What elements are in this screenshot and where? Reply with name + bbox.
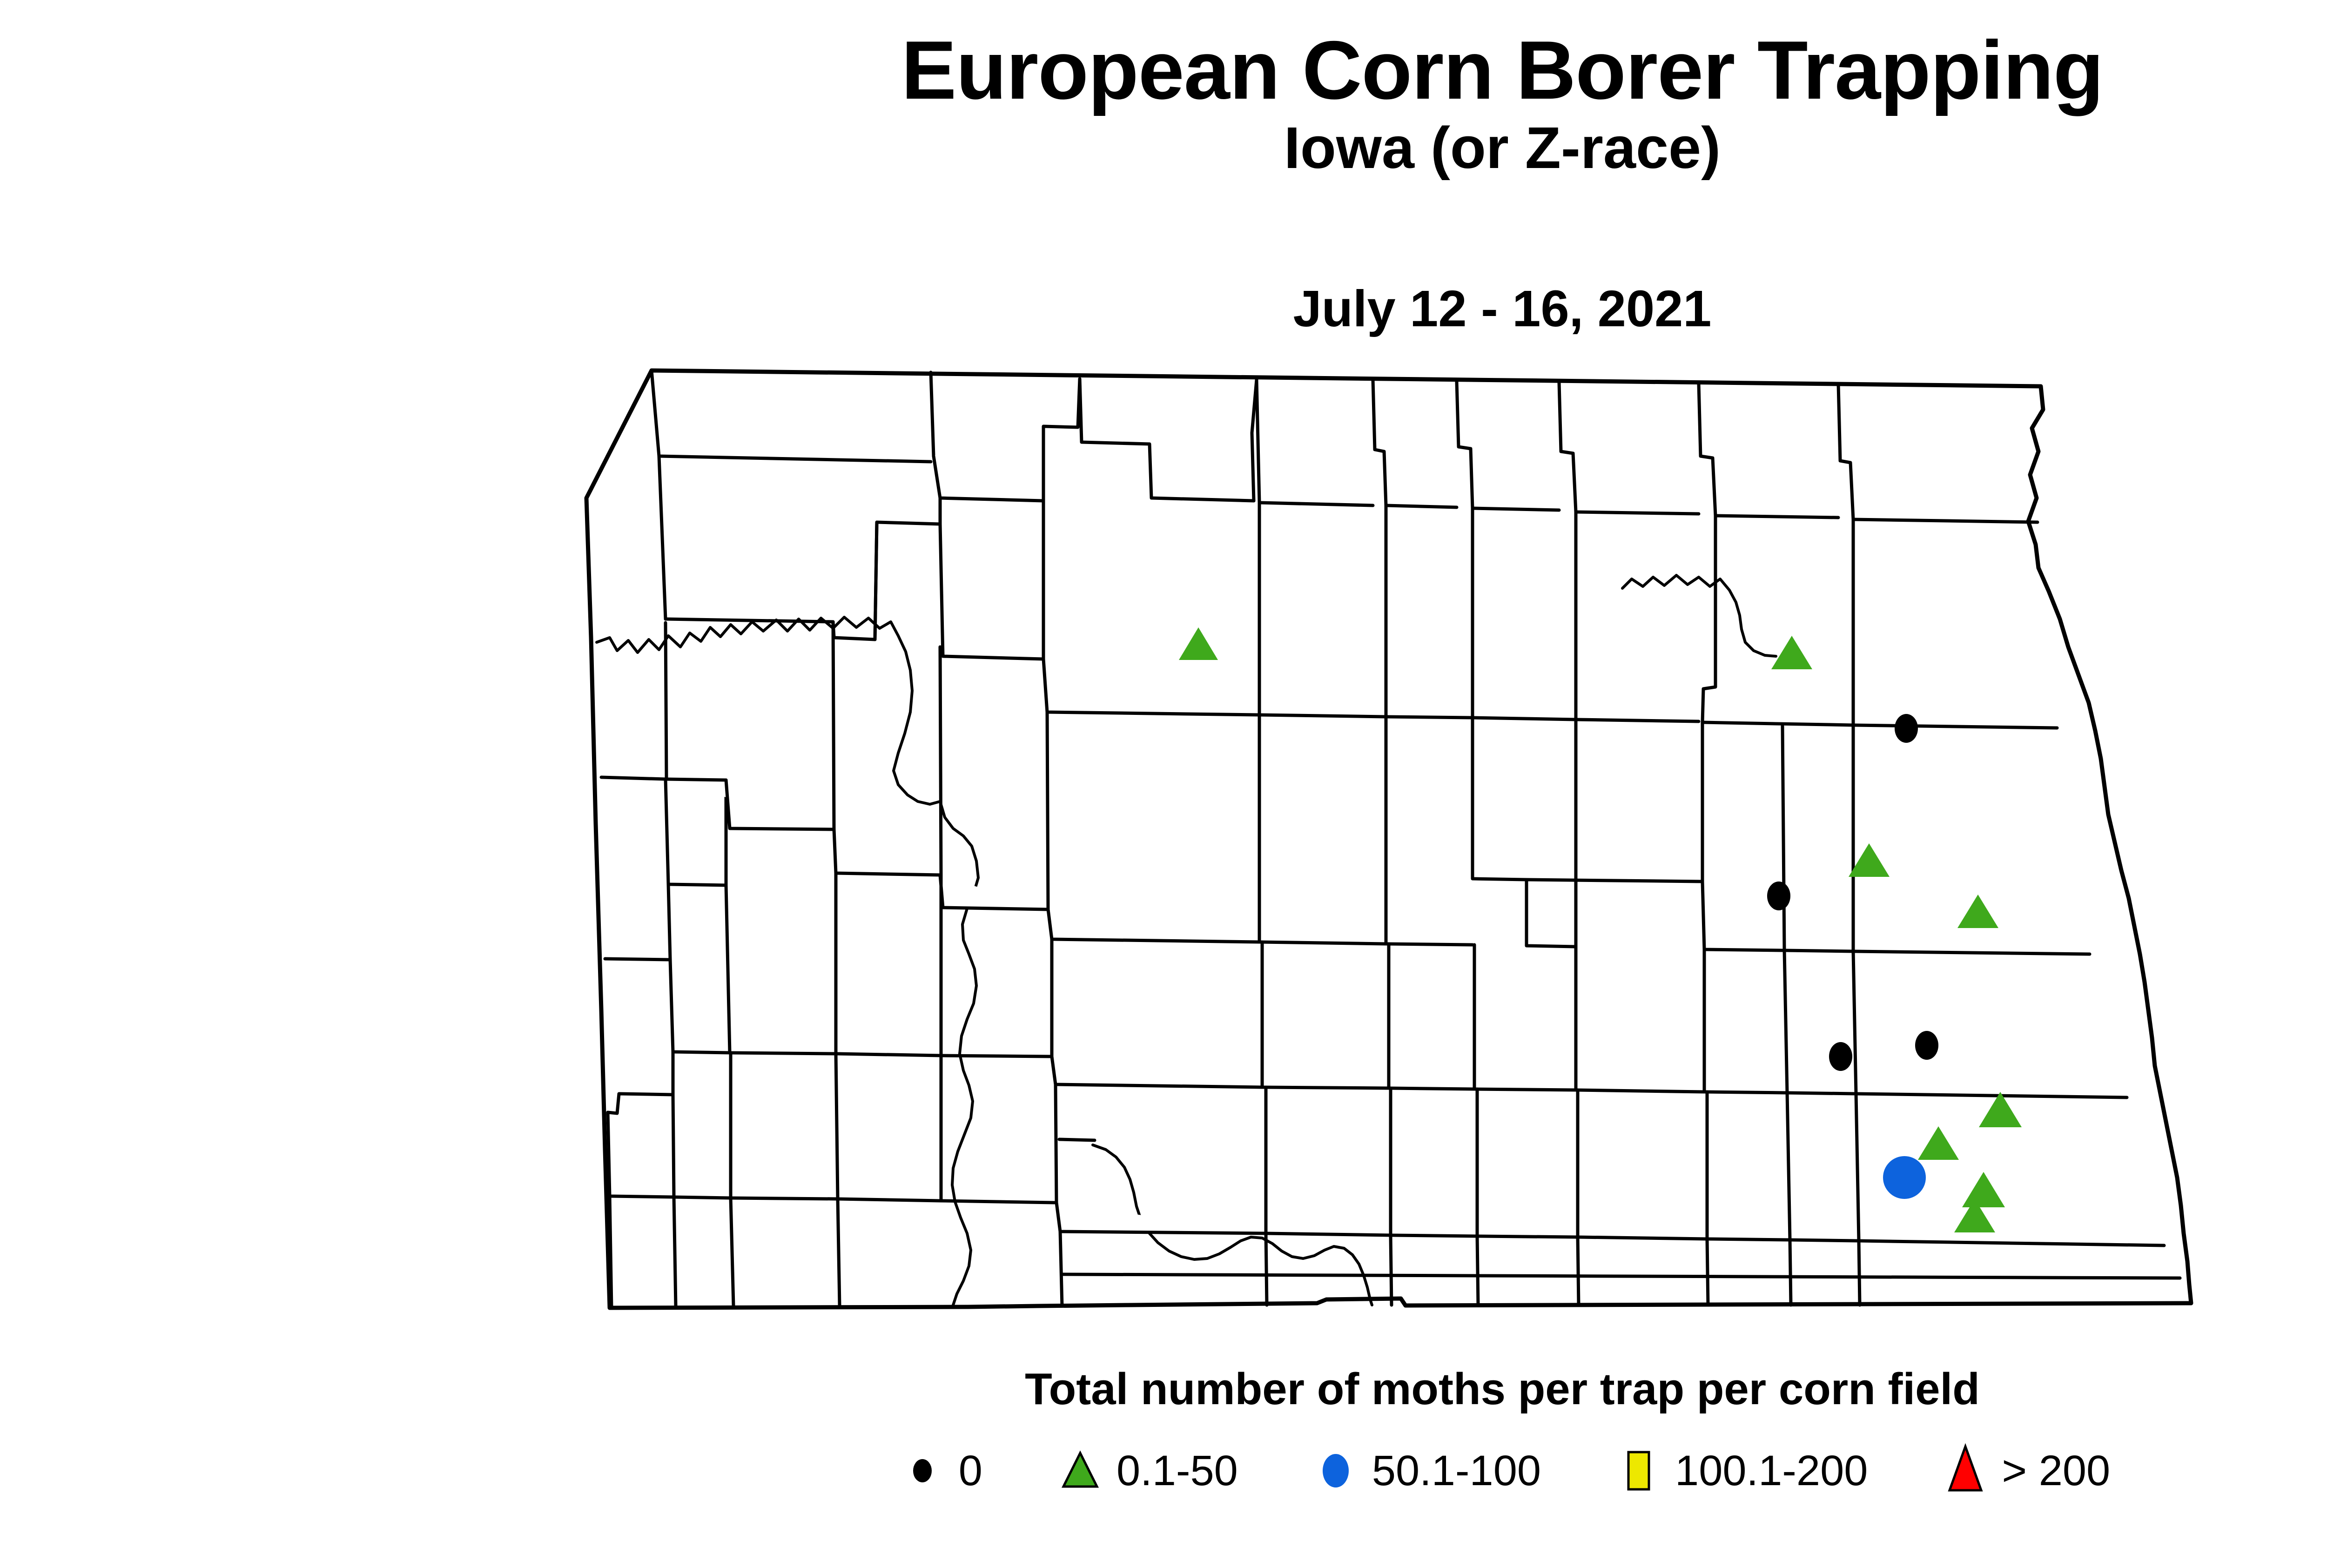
county-line-t4u: [1704, 1092, 1787, 1093]
county-line-s10: [1707, 1239, 1708, 1305]
trap-marker-dot[interactable]: [1895, 714, 1918, 743]
county-line-t3h: [940, 647, 941, 875]
figure-header: European Corn Borer Trapping Iowa (or Z-…: [0, 28, 2327, 179]
legend-item-medium[interactable]: 50.1-100: [1308, 1443, 1541, 1499]
high-count-square-icon: [1611, 1443, 1667, 1499]
county-line-t3b: [666, 623, 666, 779]
county-line-t5z: [1790, 1240, 1859, 1241]
county-line-t5t: [1477, 1236, 1578, 1237]
map-figure-page: European Corn Borer Trapping Iowa (or Z-…: [0, 0, 2327, 1568]
zero-count-dot-icon: [894, 1443, 950, 1499]
trap-marker-dot[interactable]: [1915, 1031, 1938, 1060]
county-line-s11: [1790, 1240, 1791, 1305]
county-line-t4o: [1389, 1088, 1474, 1089]
legend-label-medium: 50.1-100: [1372, 1447, 1541, 1495]
map-svg: [572, 358, 2211, 1317]
trap-marker-dot[interactable]: [1767, 882, 1790, 910]
very-high-count-triangle-icon: [1937, 1443, 1993, 1499]
date-range-label: July 12 - 16, 2021: [0, 279, 2327, 338]
county-line-t4m: [1262, 1087, 1389, 1088]
page-title: European Corn Borer Trapping: [0, 28, 2327, 113]
legend-label-high: 100.1-200: [1675, 1447, 1868, 1495]
county-line-s5: [1060, 1232, 1062, 1306]
county-line-t5p: [1266, 1233, 1391, 1235]
county-line-t2o: [1576, 720, 1699, 721]
county-line-s12: [1859, 1241, 1860, 1305]
legend-item-low[interactable]: 0.1-50: [1052, 1443, 1238, 1499]
legend-title: Total number of moths per trap per corn …: [0, 1364, 2327, 1415]
legend-item-high[interactable]: 100.1-200: [1611, 1443, 1868, 1499]
legend-label-very-high: > 200: [2002, 1447, 2110, 1495]
county-line-n11: [1473, 508, 1559, 510]
county-line-s1: [610, 1196, 612, 1308]
north-dakota-county-map: [572, 358, 2211, 1317]
county-line-t5k: [941, 1201, 1055, 1203]
county-line-t5v: [1578, 1237, 1707, 1239]
county-line-t2i: [1259, 715, 1386, 717]
legend-item-zero[interactable]: 0: [894, 1443, 982, 1499]
county-line-s7: [1391, 1235, 1392, 1305]
county-line-s6: [1266, 1233, 1267, 1305]
county-line-t3a: [601, 777, 666, 779]
legend-label-zero: 0: [959, 1447, 982, 1495]
county-line-t4e: [730, 1053, 836, 1054]
county-line-t4i: [941, 1056, 1052, 1057]
county-line-t5g: [731, 1198, 838, 1199]
county-line-t5e: [674, 1197, 731, 1198]
county-line-t5d: [673, 1095, 674, 1197]
county-line-s8: [1477, 1236, 1478, 1305]
county-line-t5x: [1707, 1239, 1790, 1240]
low-count-triangle-icon: [1052, 1443, 1108, 1499]
legend-label-low: 0.1-50: [1116, 1447, 1238, 1495]
page-subtitle: Iowa (or Z-race): [0, 117, 2327, 179]
county-boundaries: [586, 370, 2191, 1308]
county-line-t4g: [836, 1054, 941, 1056]
county-line-t4b: [668, 884, 670, 960]
county-line-t4a: [605, 959, 670, 960]
county-line-t3v: [1782, 726, 1784, 950]
county-line-t5h: [836, 1054, 838, 1199]
county-line-t4s: [1576, 1090, 1704, 1092]
county-line-s4: [838, 1199, 840, 1305]
county-line-t3w: [1784, 950, 1853, 951]
trap-marker-dot[interactable]: [1829, 1042, 1852, 1071]
medium-count-circle-icon: [1308, 1443, 1364, 1499]
county-line-n9: [1386, 505, 1457, 507]
county-line-n15: [1715, 516, 1838, 518]
county-line-t5i: [838, 1199, 941, 1201]
county-line-t3o: [1386, 944, 1473, 945]
county-line-t4q: [1474, 1089, 1576, 1090]
county-line-s2: [674, 1197, 676, 1307]
county-line-t5r: [1391, 1235, 1477, 1236]
county-line-t3m: [1259, 942, 1386, 944]
county-line-s9: [1578, 1237, 1579, 1305]
legend: 0 0.1-50 50.1-100 100.1-200 > 200: [0, 1443, 2327, 1499]
county-line-t5l: [1056, 1084, 1056, 1203]
county-line-t3j: [1047, 712, 1048, 909]
trap-marker-circle[interactable]: [1883, 1156, 1926, 1199]
legend-item-very-high[interactable]: > 200: [1937, 1443, 2110, 1499]
county-line-t5m: [1059, 1139, 1095, 1140]
county-line-t3s: [1527, 880, 1702, 882]
county-line-n13: [1576, 512, 1699, 514]
county-line-t4w: [1787, 1093, 1856, 1094]
county-line-t2k: [1386, 717, 1473, 718]
county-line-t2m: [1473, 718, 1576, 720]
state-outline: [586, 370, 2191, 1308]
county-line-t3f: [833, 622, 834, 829]
county-line-t2d: [875, 522, 877, 639]
